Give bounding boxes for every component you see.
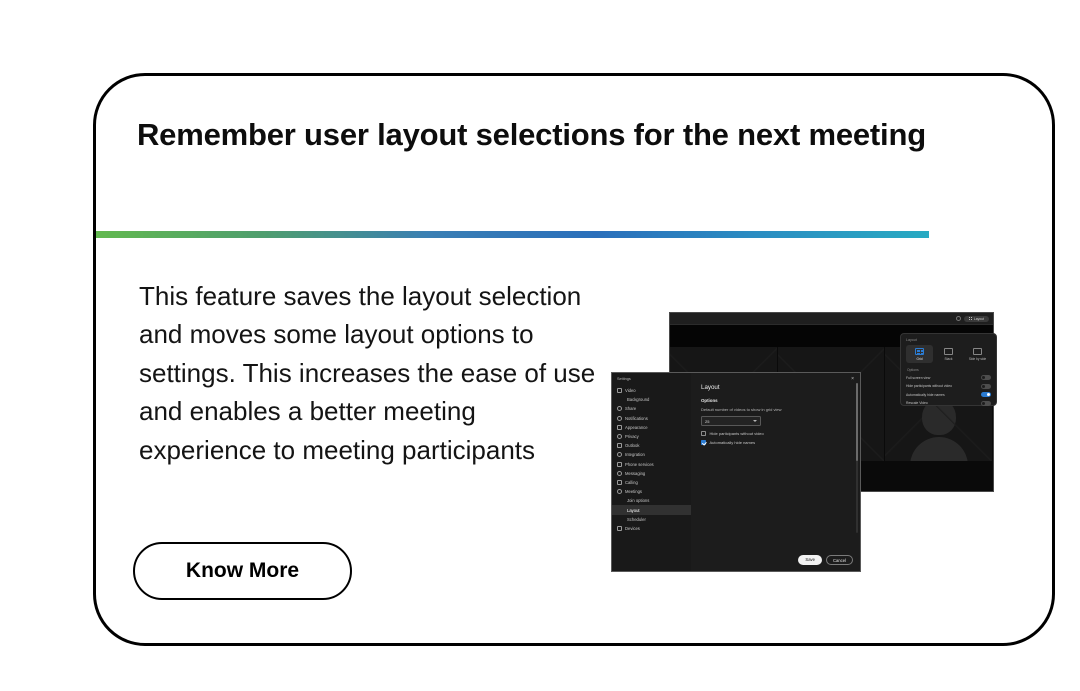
settings-dialog: Settings Video Background Share Notifica… bbox=[611, 372, 861, 572]
sidebar-item-notifications[interactable]: Notifications bbox=[612, 414, 691, 423]
checkbox-label: Hide participants without video bbox=[710, 431, 764, 436]
sidebar-item-label: Scheduler bbox=[627, 517, 646, 522]
toggle-switch[interactable] bbox=[981, 401, 991, 406]
palette-icon bbox=[617, 425, 622, 430]
meeting-layout-label: Layout bbox=[974, 317, 984, 321]
toggle-label: Hide participants without video bbox=[906, 384, 952, 388]
grid-layout-icon bbox=[915, 348, 924, 355]
toggle-row[interactable]: Hide participants without video bbox=[906, 384, 991, 389]
sidebar-item-label: Layout bbox=[627, 508, 640, 513]
sidebar-item-label: Integration bbox=[625, 452, 645, 457]
checkbox-row-auto-hide-names[interactable]: Automatically hide names bbox=[701, 440, 860, 445]
sidebar-item-calling[interactable]: Calling bbox=[612, 478, 691, 487]
sidebar-item-label: Calling bbox=[625, 480, 638, 485]
meeting-titlebar: Layout bbox=[670, 313, 993, 325]
sidebar-item-layout[interactable]: Layout bbox=[612, 505, 691, 514]
side-by-side-layout-icon bbox=[973, 348, 982, 355]
sidebar-item-label: Video bbox=[625, 388, 636, 393]
layout-popup: Layout Grid Stack Side by side Op bbox=[900, 333, 997, 406]
sidebar-item-phone-services[interactable]: Phone services bbox=[612, 460, 691, 469]
sidebar-item-devices[interactable]: Devices bbox=[612, 524, 691, 533]
call-icon bbox=[617, 480, 622, 485]
sidebar-item-scheduler[interactable]: Scheduler bbox=[612, 515, 691, 524]
sidebar-item-label: Privacy bbox=[625, 434, 639, 439]
checkbox-label: Automatically hide names bbox=[710, 440, 756, 445]
know-more-label: Know More bbox=[186, 559, 299, 583]
sidebar-item-share[interactable]: Share bbox=[612, 404, 691, 413]
grid-video-count-label: Default number of videos to show in grid… bbox=[701, 407, 860, 412]
sidebar-item-appearance[interactable]: Appearance bbox=[612, 423, 691, 432]
toggle-row[interactable]: Full screen view bbox=[906, 375, 991, 380]
grid-icon bbox=[969, 317, 972, 320]
settings-content: × Layout Options Default number of video… bbox=[691, 373, 860, 571]
chevron-down-icon bbox=[753, 420, 757, 422]
toggle-switch[interactable] bbox=[981, 384, 991, 389]
settings-sidebar: Settings Video Background Share Notifica… bbox=[612, 373, 691, 571]
sidebar-item-label: Join options bbox=[627, 498, 649, 503]
layout-mode-stack[interactable]: Stack bbox=[935, 345, 962, 363]
sidebar-item-label: Appearance bbox=[625, 425, 648, 430]
sidebar-item-label: Outlook bbox=[625, 443, 639, 448]
sidebar-item-label: Messaging bbox=[625, 471, 645, 476]
settings-footer: Save Cancel bbox=[798, 555, 853, 565]
scrollbar[interactable] bbox=[856, 383, 858, 533]
checkbox-row-hide-participants[interactable]: Hide participants without video bbox=[701, 431, 860, 436]
meeting-icon bbox=[617, 489, 622, 494]
settings-options-header: Options bbox=[701, 398, 860, 403]
cancel-button[interactable]: Cancel bbox=[826, 555, 853, 565]
grid-video-count-select[interactable]: 25 bbox=[701, 416, 761, 426]
layout-mode-side-by-side[interactable]: Side by side bbox=[964, 345, 991, 363]
feature-description: This feature saves the layout selection … bbox=[139, 277, 609, 469]
sidebar-item-label: Background bbox=[627, 397, 649, 402]
checkbox[interactable] bbox=[701, 440, 706, 445]
sidebar-item-background[interactable]: Background bbox=[612, 395, 691, 404]
layout-popup-options-header: Options bbox=[907, 368, 991, 372]
toggle-switch[interactable] bbox=[981, 392, 991, 397]
stack-layout-icon bbox=[944, 348, 953, 355]
page-title: Remember user layout selections for the … bbox=[137, 112, 927, 159]
grid-video-count-value: 25 bbox=[705, 419, 709, 424]
save-button[interactable]: Save bbox=[798, 555, 822, 565]
shield-icon bbox=[617, 434, 622, 439]
bell-icon bbox=[617, 416, 622, 421]
layout-mode-label: Grid bbox=[906, 357, 933, 361]
share-icon bbox=[617, 406, 622, 411]
meeting-layout-button[interactable]: Layout bbox=[964, 316, 989, 322]
integration-icon bbox=[617, 452, 622, 457]
search-icon[interactable] bbox=[956, 316, 961, 321]
layout-mode-group: Grid Stack Side by side bbox=[906, 345, 991, 363]
layout-mode-label: Side by side bbox=[964, 357, 991, 361]
layout-popup-title: Layout bbox=[906, 338, 991, 342]
sidebar-item-outlook[interactable]: Outlook bbox=[612, 441, 691, 450]
layout-mode-grid[interactable]: Grid bbox=[906, 345, 933, 363]
product-screenshot: Layout bbox=[611, 304, 996, 579]
camera-icon bbox=[617, 388, 622, 393]
chat-icon bbox=[617, 471, 622, 476]
sidebar-item-label: Phone services bbox=[625, 462, 654, 467]
sidebar-item-privacy[interactable]: Privacy bbox=[612, 432, 691, 441]
settings-sidebar-title: Settings bbox=[612, 377, 691, 386]
sidebar-item-label: Devices bbox=[625, 526, 640, 531]
checkbox[interactable] bbox=[701, 431, 706, 436]
layout-mode-label: Stack bbox=[935, 357, 962, 361]
sidebar-item-label: Notifications bbox=[625, 416, 648, 421]
sidebar-item-label: Meetings bbox=[625, 489, 642, 494]
sidebar-item-video[interactable]: Video bbox=[612, 386, 691, 395]
sidebar-item-join-options[interactable]: Join options bbox=[612, 496, 691, 505]
toggle-label: Full screen view bbox=[906, 376, 930, 380]
toggle-label: Automatically hide names bbox=[906, 393, 945, 397]
toggle-switch[interactable] bbox=[981, 375, 991, 380]
toggle-row[interactable]: Automatically hide names bbox=[906, 392, 991, 397]
close-icon[interactable]: × bbox=[851, 377, 854, 382]
outlook-icon bbox=[617, 443, 622, 448]
person-avatar bbox=[910, 399, 968, 463]
sidebar-item-label: Share bbox=[625, 406, 636, 411]
devices-icon bbox=[617, 526, 622, 531]
toggle-label: Rescale Video bbox=[906, 401, 928, 405]
sidebar-item-messaging[interactable]: Messaging bbox=[612, 469, 691, 478]
toggle-row[interactable]: Rescale Video bbox=[906, 401, 991, 406]
sidebar-item-integration[interactable]: Integration bbox=[612, 450, 691, 459]
gradient-divider bbox=[96, 231, 929, 238]
know-more-button[interactable]: Know More bbox=[133, 542, 352, 600]
phone-icon bbox=[617, 462, 622, 467]
feature-card: Remember user layout selections for the … bbox=[93, 73, 1055, 646]
sidebar-item-meetings[interactable]: Meetings bbox=[612, 487, 691, 496]
settings-panel-title: Layout bbox=[701, 384, 860, 391]
